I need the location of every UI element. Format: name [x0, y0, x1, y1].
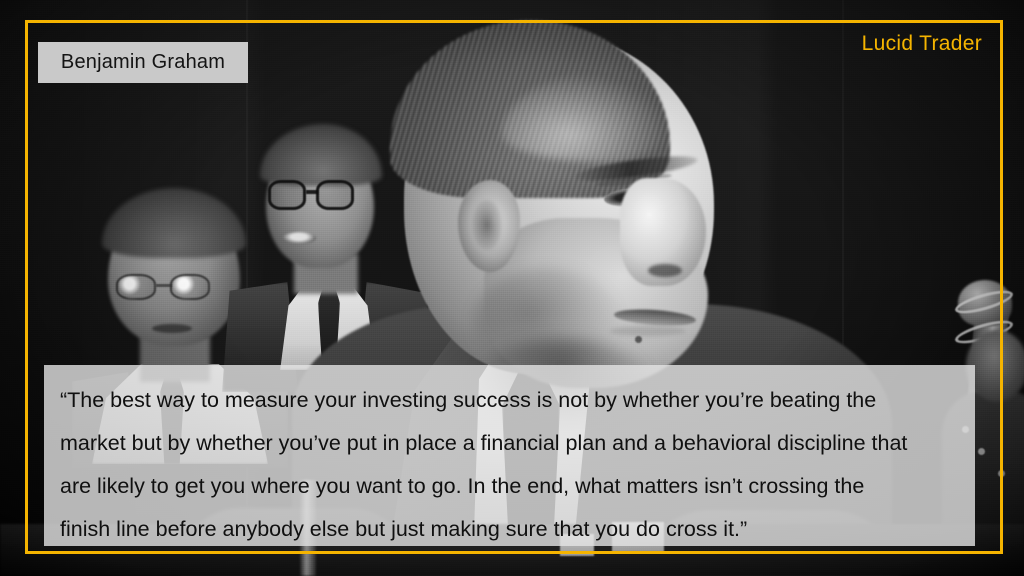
eyeglasses-lens-right: [170, 274, 210, 300]
nostril: [648, 264, 682, 277]
quote-line: finish line before anybody else but just…: [60, 508, 959, 551]
highlight-speck: [998, 470, 1005, 477]
ear-inner: [472, 200, 502, 250]
lip-shadow: [610, 326, 686, 336]
highlight-speck: [978, 448, 985, 455]
brand-label: Lucid Trader: [862, 32, 982, 56]
eyeglasses-lens-right: [316, 180, 354, 210]
mouth: [282, 232, 316, 244]
eyeglasses-lens-left: [268, 180, 306, 210]
quote-card: Benjamin Graham Lucid Trader “The best w…: [0, 0, 1024, 576]
quote-panel: “The best way to measure your investing …: [44, 365, 975, 546]
eyeglasses-bridge: [306, 190, 318, 194]
hair: [102, 188, 246, 258]
name-badge-label: Benjamin Graham: [61, 51, 225, 74]
quote-line: “The best way to measure your investing …: [60, 379, 959, 422]
quote-line: market but by whether you’ve put in plac…: [60, 422, 959, 465]
eyeglasses-lens-left: [116, 274, 156, 300]
name-badge: Benjamin Graham: [38, 42, 248, 83]
facial-mole: [635, 336, 642, 343]
mouth: [152, 324, 192, 333]
eyeglasses-bridge: [156, 284, 172, 287]
quote-line: are likely to get you where you want to …: [60, 465, 959, 508]
